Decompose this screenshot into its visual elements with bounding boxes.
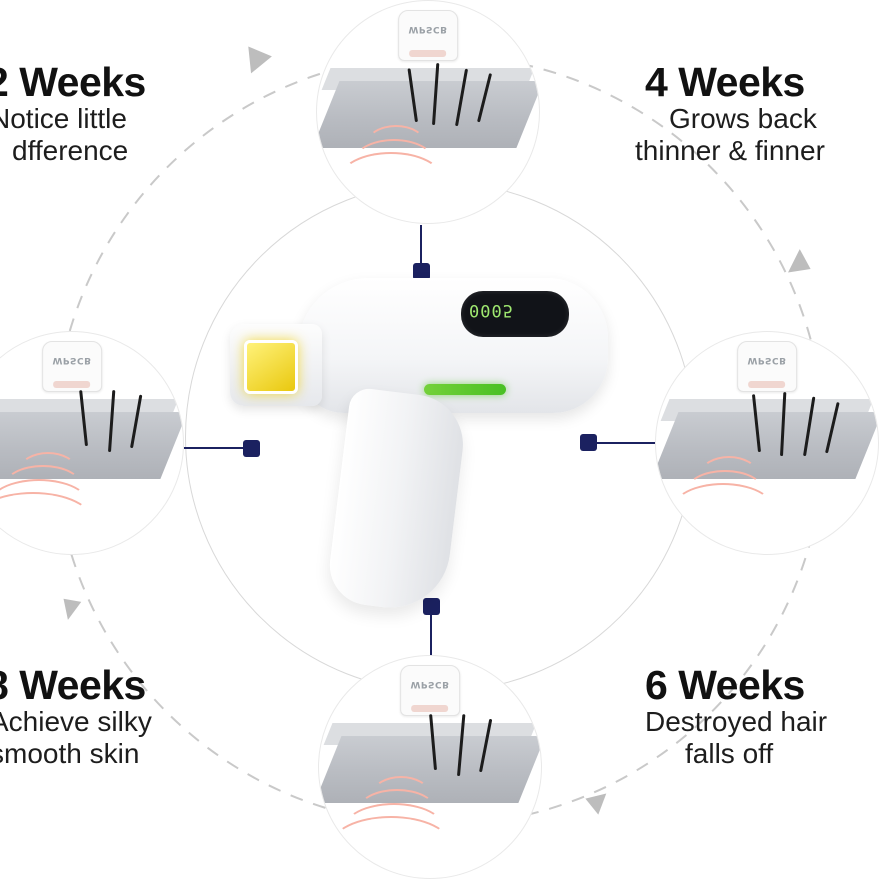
lens-glow bbox=[54, 381, 91, 388]
mini-device-icon: WPSCB bbox=[398, 10, 458, 61]
label-desc-line-1: Grows back bbox=[645, 103, 825, 135]
photo-week-4: WPSCB bbox=[655, 331, 879, 555]
label-week-4: 4 Weeks Grows back thinner & finner bbox=[645, 62, 825, 166]
photo-week-6: WPSCB bbox=[318, 655, 542, 879]
infographic-canvas: WPSCB WPSCB WPSCB bbox=[0, 0, 879, 879]
mini-device-icon: WPSCB bbox=[42, 341, 102, 392]
device-head bbox=[230, 324, 322, 406]
label-week-8: 8 Weeks Achieve silky smooth skin bbox=[0, 665, 152, 769]
label-desc-line-2: smooth skin bbox=[0, 738, 152, 770]
ipl-device: 0005 bbox=[228, 268, 648, 628]
brand-text: WPSCB bbox=[53, 355, 92, 365]
photo-week-8: WPSCB bbox=[0, 331, 184, 555]
label-title: 2 Weeks bbox=[0, 62, 146, 103]
label-desc-line-1: Notice little bbox=[0, 103, 146, 135]
label-desc-line-2: thinner & finner bbox=[635, 135, 825, 167]
brand-text: WPSCB bbox=[409, 24, 448, 34]
mini-device-icon: WPSCB bbox=[400, 665, 460, 716]
label-week-2: 2 Weeks Notice little dfference bbox=[0, 62, 146, 166]
lens-glow bbox=[412, 705, 449, 712]
device-handle bbox=[325, 387, 468, 615]
skin-block bbox=[316, 81, 540, 148]
label-desc-line-1: Destroyed hair bbox=[645, 706, 827, 738]
skin-block bbox=[318, 736, 542, 803]
brand-text: WPSCB bbox=[411, 679, 450, 689]
label-title: 8 Weeks bbox=[0, 665, 152, 706]
label-desc-line-2: falls off bbox=[645, 738, 827, 770]
display-value: 0005 bbox=[469, 300, 514, 320]
label-title: 4 Weeks bbox=[645, 62, 825, 103]
status-indicator bbox=[424, 384, 506, 395]
pulse-wave bbox=[330, 816, 452, 876]
device-display: 0005 bbox=[461, 291, 569, 337]
flash-window-icon bbox=[244, 340, 298, 394]
brand-text: WPSCB bbox=[748, 355, 787, 365]
lens-glow bbox=[749, 381, 786, 388]
label-title: 6 Weeks bbox=[645, 665, 827, 706]
photo-week-2: WPSCB bbox=[316, 0, 540, 224]
label-week-6: 6 Weeks Destroyed hair falls off bbox=[645, 665, 827, 769]
pulse-wave bbox=[339, 152, 443, 206]
skin-block bbox=[655, 412, 879, 479]
mini-device-icon: WPSCB bbox=[737, 341, 797, 392]
label-desc-line-1: Achieve silky bbox=[0, 706, 152, 738]
label-desc-line-2: dfference bbox=[0, 135, 146, 167]
pulse-wave bbox=[672, 483, 774, 535]
lens-glow bbox=[410, 50, 447, 57]
